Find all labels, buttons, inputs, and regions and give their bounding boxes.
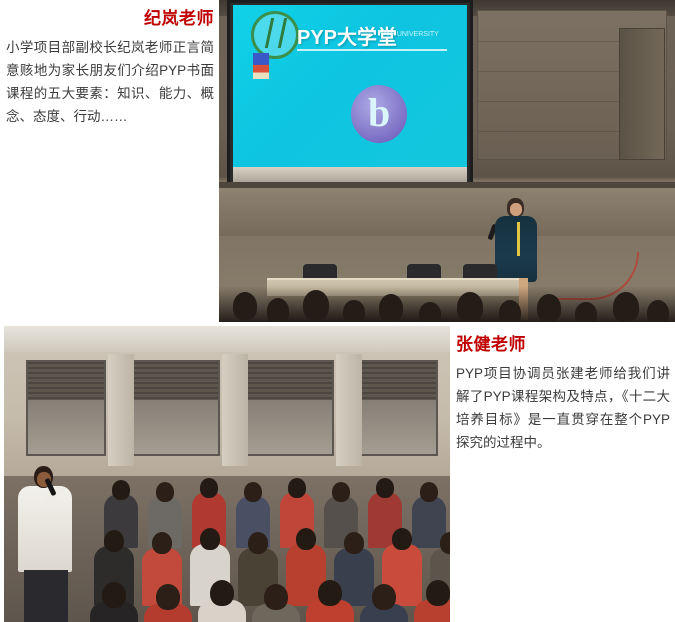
window <box>360 360 438 456</box>
content-block-1: 纪岚老师 小学项目部副校长纪岚老师正言简意赅地为家长朋友们介绍PYP书面课程的五… <box>0 0 675 320</box>
window-blind <box>362 362 436 400</box>
caption-title-1: 纪岚老师 <box>6 8 214 30</box>
window-blind <box>28 362 104 400</box>
window <box>246 360 334 456</box>
slide-subtitle: PYP UNIVERSITY <box>381 31 439 38</box>
wall-column <box>108 354 134 466</box>
slide-color-swatch <box>253 53 269 79</box>
slide-letter-mark-icon <box>351 85 407 143</box>
projection-screen: PYP大学堂 PYP UNIVERSITY <box>227 0 473 186</box>
speaker-body <box>495 216 537 282</box>
screen-bottom-bar <box>233 167 467 183</box>
stage-floor <box>219 188 675 236</box>
document-page: 纪岚老师 小学项目部副校长纪岚老师正言简意赅地为家长朋友们介绍PYP书面课程的五… <box>0 0 675 622</box>
window-blind <box>248 362 332 400</box>
room-ceiling <box>4 326 450 352</box>
window <box>132 360 220 456</box>
projected-slide: PYP大学堂 PYP UNIVERSITY <box>233 5 467 167</box>
hall-door <box>619 28 665 160</box>
wall-column <box>336 354 362 466</box>
caption-column-2: 张健老师 PYP项目协调员张建老师给我们讲解了PYP课程架构及特点，《十二大培养… <box>456 334 670 454</box>
caption-column-1: 纪岚老师 小学项目部副校长纪岚老师正言简意赅地为家长朋友们介绍PYP书面课程的五… <box>6 8 214 128</box>
caption-title-2: 张健老师 <box>456 334 670 356</box>
photo-audience-and-speaker <box>4 326 450 622</box>
slide-divider <box>297 49 447 51</box>
audience-seating <box>94 476 450 622</box>
presenter-legs <box>24 570 68 622</box>
caption-body-1: 小学项目部副校长纪岚老师正言简意赅地为家长朋友们介绍PYP书面课程的五大要素：知… <box>6 36 214 128</box>
content-block-2: 张健老师 PYP项目协调员张建老师给我们讲解了PYP课程架构及特点，《十二大培养… <box>0 326 675 622</box>
school-logo-icon <box>251 11 299 59</box>
caption-body-2: PYP项目协调员张建老师给我们讲解了PYP课程架构及特点，《十二大培养目标》是一… <box>456 362 670 454</box>
speaker-face <box>510 203 522 216</box>
lanyard <box>517 222 520 256</box>
window-blind <box>134 362 218 400</box>
photo-lecture-hall-pyp-screen: PYP大学堂 PYP UNIVERSITY <box>219 0 675 322</box>
wall-column <box>222 354 248 466</box>
window <box>26 360 106 456</box>
audience-foreground <box>219 286 675 322</box>
